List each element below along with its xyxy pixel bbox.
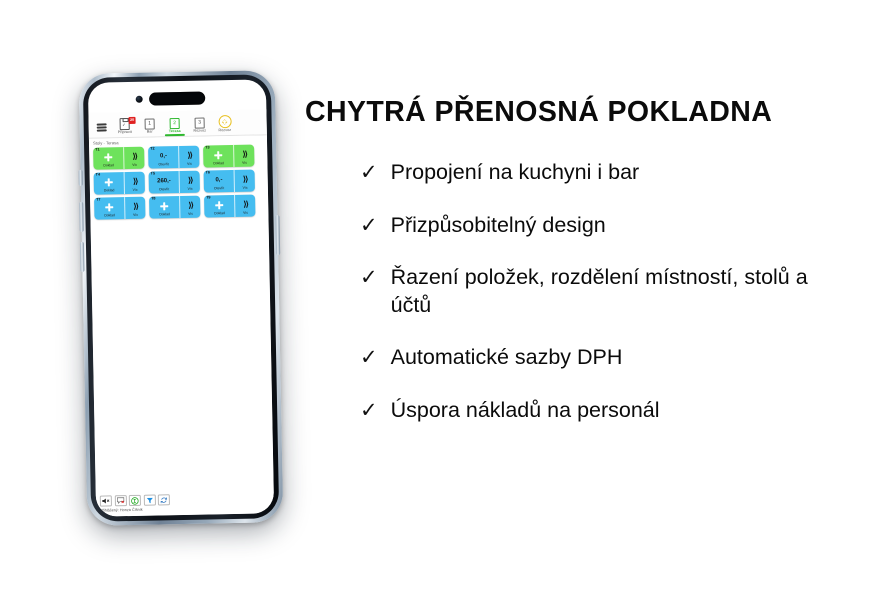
filter-icon[interactable] [143,495,155,506]
more-chevrons-icon: ⟩⟩ [235,170,255,188]
table-secondary-label: Víc [132,164,137,167]
table-card[interactable]: T1 Doklad ⟩⟩ Víc [93,147,144,170]
pos-app: ✓ 20 Připravit 1 Bar 2 Terasa 3 [88,109,274,516]
more-chevrons-icon: ⟩⟩ [234,145,254,163]
table-primary-action[interactable]: 0,- Otevřít [148,146,179,169]
table-primary-label: Doklad [103,165,114,169]
table-secondary-label: Víc [187,163,192,166]
table-primary-action[interactable]: Doklad [204,195,235,218]
marketing-content: CHYTRÁ PŘENOSNÁ POKLADNA ✓ Propojení na … [305,96,870,424]
table-primary-label: Doklad [159,214,170,218]
tables-grid: T1 Doklad ⟩⟩ Víc T2 0,- [89,143,274,492]
table-secondary-label: Víc [133,189,138,192]
table-primary-action[interactable]: Doklad [149,196,180,219]
list-item: ✓ Přizpůsobitelný design [360,212,870,240]
check-icon: ✓ [360,159,378,185]
check-icon: ✓ [360,212,378,238]
table-amount: 260,- [149,171,180,189]
phone-screen: ✓ 20 Připravit 1 Bar 2 Terasa 3 [88,79,274,516]
table-primary-label: Otevřít [214,188,224,192]
volume-up-button[interactable] [79,202,84,232]
volume-down-button[interactable] [80,242,85,272]
check-icon: ✓ [360,264,378,290]
toolbar-item-rozvoz-add[interactable]: Rozvoz [212,114,236,135]
table-card[interactable]: T3 Doklad ⟩⟩ Víc [203,145,254,168]
plus-icon [204,195,235,213]
feature-text: Úspora nákladů na personál [391,397,660,425]
table-amount: 0,- [148,146,179,164]
list-item: ✓ Automatické sazby DPH [360,344,870,372]
plus-icon [149,196,180,214]
check-icon: ✓ [360,397,378,423]
table-secondary-label: Víc [243,212,248,215]
list-item: ✓ Řazení položek, rozdělení místností, s… [360,264,870,319]
dynamic-island [149,92,205,106]
table-primary-label: Doklad [104,215,115,219]
number-2-icon: 2 [170,118,180,129]
table-more-action[interactable]: ⟩⟩ Víc [124,197,145,219]
table-secondary-label: Víc [133,214,138,217]
table-card[interactable]: T7 Doklad ⟩⟩ Víc [94,197,145,220]
more-chevrons-icon: ⟩⟩ [180,171,200,189]
more-chevrons-icon: ⟩⟩ [124,147,144,165]
app-toolbar: ✓ 20 Připravit 1 Bar 2 Terasa 3 [88,109,266,138]
chat-disabled-icon[interactable] [114,495,126,506]
list-item: ✓ Propojení na kuchyni i bar [360,159,870,187]
printer-ok-icon[interactable] [129,495,141,506]
toolbar-label-rozvoz-add: Rozvoz [218,129,231,133]
number-3-icon: 3 [195,118,205,129]
table-primary-label: Otevřít [159,189,169,193]
table-more-action[interactable]: ⟩⟩ Víc [179,196,200,218]
table-primary-label: Doklad [214,213,225,217]
feature-list: ✓ Propojení na kuchyni i bar ✓ Přizpůsob… [305,159,870,424]
feature-text: Propojení na kuchyni i bar [391,159,640,187]
table-card[interactable]: T8 Doklad ⟩⟩ Víc [149,196,200,219]
plus-icon [93,147,124,165]
power-button[interactable] [275,215,280,255]
toolbar-label-bar: Bar [147,131,153,135]
hamburger-menu-icon [97,123,107,131]
table-primary-action[interactable]: 0,- Otevřít [204,170,235,193]
more-chevrons-icon: ⟩⟩ [179,146,199,164]
table-secondary-label: Víc [243,187,248,190]
table-secondary-label: Víc [188,213,193,216]
toolbar-item-pripravit[interactable]: ✓ 20 Připravit [113,117,137,137]
toolbar-item-rozvoz[interactable]: 3 Rozvoz [188,117,212,136]
table-more-action[interactable]: ⟩⟩ Víc [234,195,255,217]
table-more-action[interactable]: ⟩⟩ Víc [234,170,255,192]
table-more-action[interactable]: ⟩⟩ Víc [123,147,144,169]
toolbar-item-bar[interactable]: 1 Bar [138,118,162,137]
toolbar-item-terasa[interactable]: 2 Terasa [163,117,187,136]
feature-text: Automatické sazby DPH [391,344,623,372]
table-primary-label: Doklad [213,163,224,167]
silent-switch[interactable] [79,170,83,186]
table-primary-action[interactable]: Doklad [93,147,124,170]
table-primary-action[interactable]: Doklad [94,172,125,195]
menu-button[interactable] [92,122,112,137]
plus-icon [94,197,125,215]
table-primary-label: Doklad [104,190,115,194]
table-secondary-label: Víc [188,188,193,191]
table-primary-label: Otevřít [159,164,169,168]
front-camera-icon [136,96,143,103]
table-card[interactable]: T9 Doklad ⟩⟩ Víc [204,195,255,218]
table-more-action[interactable]: ⟩⟩ Víc [178,146,199,168]
table-more-action[interactable]: ⟩⟩ Víc [179,171,200,193]
plus-icon [203,145,234,163]
table-primary-action[interactable]: Doklad [203,145,234,168]
feature-text: Řazení položek, rozdělení místností, sto… [391,264,821,319]
more-chevrons-icon: ⟩⟩ [235,195,255,213]
list-item: ✓ Úspora nákladů na personál [360,397,870,425]
table-amount: 0,- [204,170,235,188]
table-primary-action[interactable]: Doklad [94,197,125,220]
check-icon: ✓ [360,344,378,370]
page-title: CHYTRÁ PŘENOSNÁ POKLADNA [305,96,870,129]
more-chevrons-icon: ⟩⟩ [125,172,145,190]
poster-stage: ✓ 20 Připravit 1 Bar 2 Terasa 3 [0,0,889,598]
speaker-mute-icon[interactable] [100,495,112,506]
more-chevrons-icon: ⟩⟩ [180,196,200,214]
plus-icon [94,172,125,190]
table-primary-action[interactable]: 260,- Otevřít [149,171,180,194]
toolbar-label-pripravit: Připravit [118,131,132,135]
table-more-action[interactable]: ⟩⟩ Víc [233,145,254,167]
number-1-icon: 1 [145,119,155,130]
table-card[interactable]: T5 260,- Otevřít ⟩⟩ Víc [149,171,200,194]
table-secondary-label: Víc [242,162,247,165]
table-card[interactable]: T6 0,- Otevřít ⟩⟩ Víc [204,170,255,193]
pripravit-badge: 20 [129,117,136,124]
table-more-action[interactable]: ⟩⟩ Víc [124,172,145,194]
plus-diamond-icon [218,115,231,128]
more-chevrons-icon: ⟩⟩ [125,197,145,215]
feature-text: Přizpůsobitelný design [391,212,606,240]
refresh-icon[interactable] [158,494,170,505]
toolbar-label-rozvoz: Rozvoz [193,130,206,134]
phone-mockup: ✓ 20 Připravit 1 Bar 2 Terasa 3 [79,70,284,526]
table-card[interactable]: T4 Doklad ⟩⟩ Víc [94,172,145,195]
table-card[interactable]: T2 0,- Otevřít ⟩⟩ Víc [148,146,199,169]
